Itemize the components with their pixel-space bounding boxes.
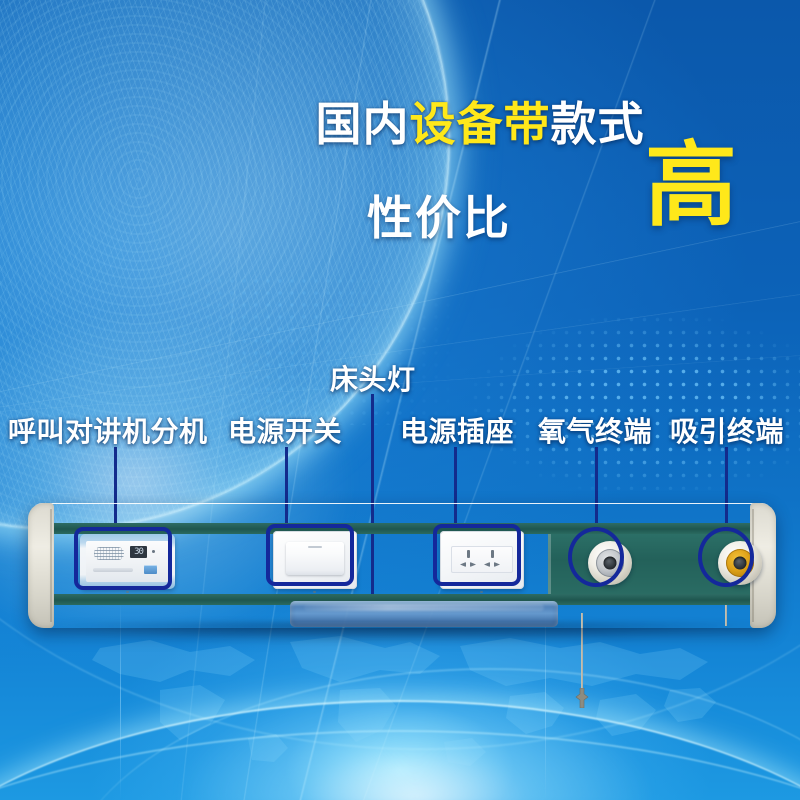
cross-fitting-icon	[575, 688, 589, 708]
headline-highlight: 设备带	[410, 98, 551, 150]
headline-line-1: 国内设备带款式	[280, 88, 680, 154]
callout-label-oxygen-terminal: 氧气终端	[538, 410, 652, 450]
callout-label-bedside-lamp: 床头灯	[330, 358, 416, 398]
callout-label-power-switch: 电源开关	[228, 410, 342, 450]
panel-screw-3	[480, 591, 483, 593]
headline-prefix: 国内	[316, 98, 410, 150]
highlight-box-intercom	[74, 527, 172, 590]
panel-screw-1	[126, 591, 129, 593]
callout-label-suction-terminal: 吸引终端	[670, 410, 784, 450]
headline-emphasis: 高	[645, 140, 737, 232]
highlight-circle-suction	[698, 527, 754, 587]
headline-suffix: 款式	[551, 98, 645, 150]
panel-screw-2	[313, 591, 316, 593]
bedside-lamp-gloss	[304, 604, 544, 611]
panel-end-cap-left	[28, 503, 54, 628]
callout-label-intercom: 呼叫对讲机分机	[8, 410, 208, 450]
headline-line-2: 性价比	[280, 182, 680, 248]
highlight-box-power-socket	[433, 524, 521, 586]
highlight-box-power-switch	[266, 524, 354, 586]
panel-teal-section-edge	[548, 523, 551, 605]
headline-block: 国内设备带款式 性价比	[280, 88, 680, 248]
highlight-circle-oxygen	[568, 527, 624, 587]
poster-canvas: 国内设备带款式 性价比 高 呼叫对讲机分机 床头灯 电源开关 电源插座 氧气终端…	[0, 0, 800, 800]
callout-label-power-socket: 电源插座	[400, 410, 514, 450]
